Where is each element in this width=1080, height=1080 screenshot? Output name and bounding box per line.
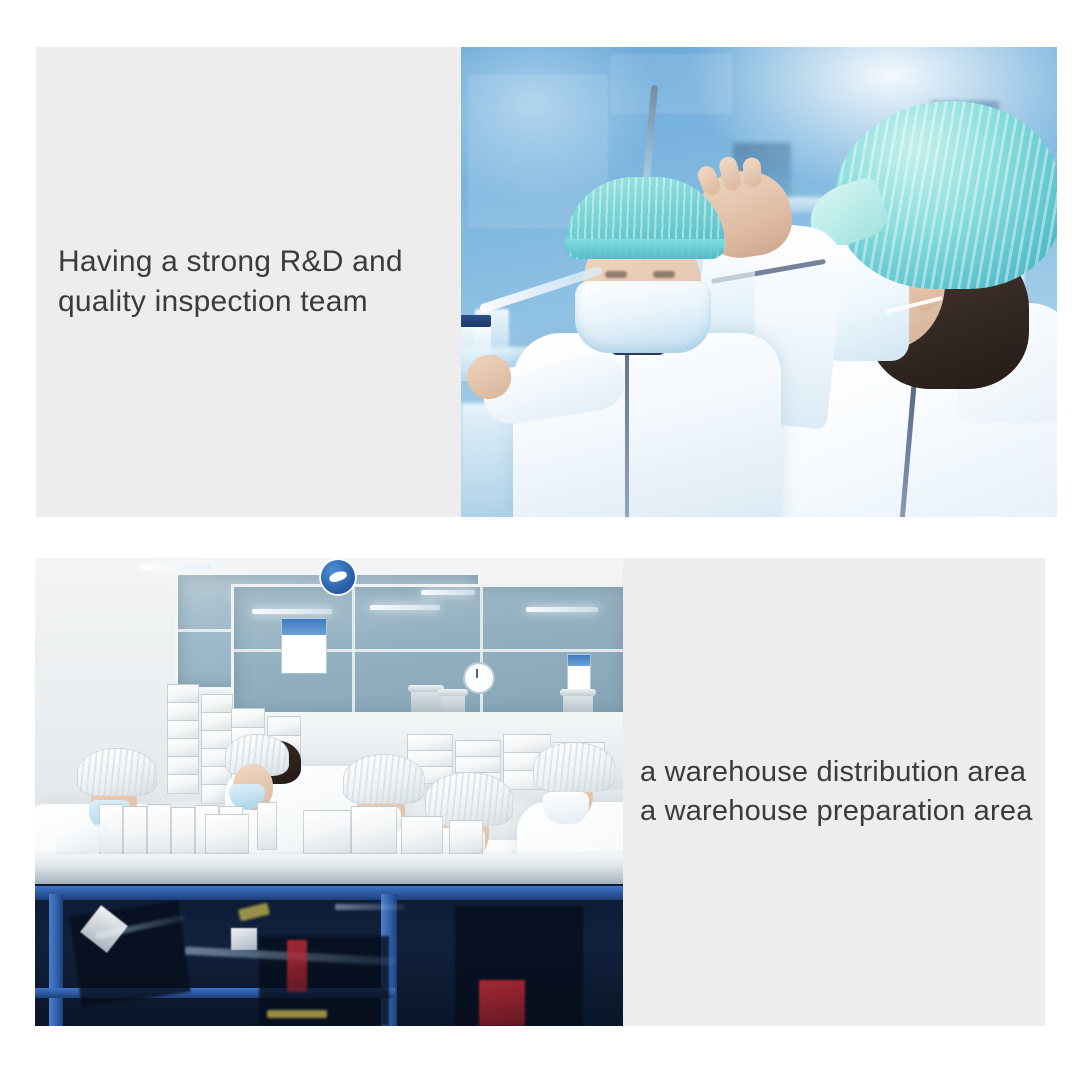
face-mask xyxy=(575,281,711,353)
floor-marking xyxy=(267,1010,327,1018)
wall-clock xyxy=(463,662,495,694)
product-box xyxy=(401,816,443,854)
table-under-shadow xyxy=(35,884,623,1026)
red-object xyxy=(479,980,525,1026)
product-box xyxy=(257,802,277,850)
blue-notice-sign xyxy=(281,618,327,674)
ceiling-light xyxy=(421,590,475,595)
blue-circular-sign xyxy=(321,560,355,594)
lab-bottle-cap xyxy=(461,315,491,327)
lab-scene xyxy=(461,47,1057,517)
eye xyxy=(605,271,627,278)
photo-warehouse-packing xyxy=(35,558,623,1026)
blue-notice-sign xyxy=(567,654,591,692)
hair-net-cap xyxy=(77,748,157,796)
product-box xyxy=(201,712,233,732)
product-box xyxy=(449,820,483,854)
section-rd-quality: Having a strong R&D and quality inspecti… xyxy=(36,47,1057,517)
hair-net-band xyxy=(565,239,725,259)
caption-text-rd-quality: Having a strong R&D and quality inspecti… xyxy=(36,242,411,321)
table-blue-frame-rail xyxy=(35,886,623,900)
lab-worker-left xyxy=(507,165,797,517)
eye xyxy=(653,271,675,278)
packing-scene xyxy=(35,558,623,1026)
product-box xyxy=(167,702,199,722)
section-warehouse: a warehouse distribution area a warehous… xyxy=(35,558,1045,1026)
hair-net-cap xyxy=(533,742,615,792)
caption-panel-rd-quality: Having a strong R&D and quality inspecti… xyxy=(36,47,462,517)
ceiling-light xyxy=(141,564,211,570)
ceiling-light xyxy=(370,605,440,610)
product-box xyxy=(167,684,199,704)
caption-text-warehouse: a warehouse distribution area a warehous… xyxy=(623,753,1037,831)
caption-panel-warehouse: a warehouse distribution area a warehous… xyxy=(623,558,1045,1026)
product-box xyxy=(351,806,397,854)
stainless-work-table xyxy=(35,854,623,888)
product-box xyxy=(205,814,249,854)
paper-sheet xyxy=(231,928,257,950)
product-box xyxy=(303,810,351,854)
page-root: Having a strong R&D and quality inspecti… xyxy=(0,0,1080,1080)
lab-wall-panel xyxy=(611,55,731,113)
product-box xyxy=(123,806,147,860)
product-box xyxy=(201,694,233,714)
ceiling-light xyxy=(526,607,598,612)
table-blue-leg xyxy=(49,894,63,1026)
product-box xyxy=(147,804,171,860)
metal-glint xyxy=(335,904,405,910)
ceiling-light xyxy=(252,609,332,614)
photo-rd-quality-lab xyxy=(461,47,1057,517)
face-mask xyxy=(543,792,589,824)
product-box xyxy=(171,807,195,860)
yellow-marking xyxy=(238,903,270,922)
red-object xyxy=(287,940,307,992)
paper-sheet xyxy=(54,824,110,857)
product-box xyxy=(167,720,199,740)
